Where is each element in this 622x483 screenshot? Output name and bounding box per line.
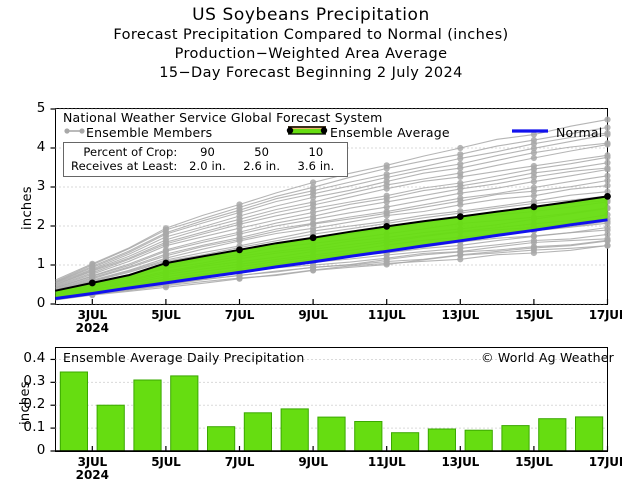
y-tick-label: 0.3 <box>12 373 46 389</box>
bar <box>208 427 235 451</box>
y-tick-label: 0 <box>12 442 46 458</box>
x-tick-label: 9JUL <box>283 455 343 469</box>
bar <box>355 422 382 452</box>
bar <box>60 372 87 451</box>
bar <box>392 433 419 451</box>
x-tick-sublabel: 2024 <box>62 468 122 482</box>
bar <box>502 426 529 451</box>
bar <box>318 417 345 451</box>
bar <box>244 413 271 451</box>
bar <box>428 429 455 451</box>
x-tick-label: 13JUL <box>430 455 490 469</box>
y-tick-label: 0.1 <box>12 419 46 435</box>
y-tick-label: 0.2 <box>12 396 46 412</box>
bar <box>97 405 124 451</box>
bar <box>539 419 566 451</box>
bar <box>465 430 492 451</box>
x-tick-label: 7JUL <box>210 455 270 469</box>
bar <box>576 417 603 451</box>
x-tick-label: 11JUL <box>357 455 417 469</box>
x-tick-label: 15JUL <box>504 455 564 469</box>
y-tick-label: 0.4 <box>12 350 46 366</box>
bar <box>171 376 198 451</box>
daily-precip-title: Ensemble Average Daily Precipitation <box>63 350 305 365</box>
bar <box>134 380 161 451</box>
x-tick-label: 3JUL <box>62 455 122 469</box>
chart-page: US Soybeans Precipitation Forecast Preci… <box>0 0 622 483</box>
copyright-label: © World Ag Weather <box>481 350 614 365</box>
x-tick-label: 17JUL <box>578 455 622 469</box>
bar <box>281 409 308 451</box>
x-tick-label: 5JUL <box>136 455 196 469</box>
daily-chart-svg <box>0 0 622 483</box>
